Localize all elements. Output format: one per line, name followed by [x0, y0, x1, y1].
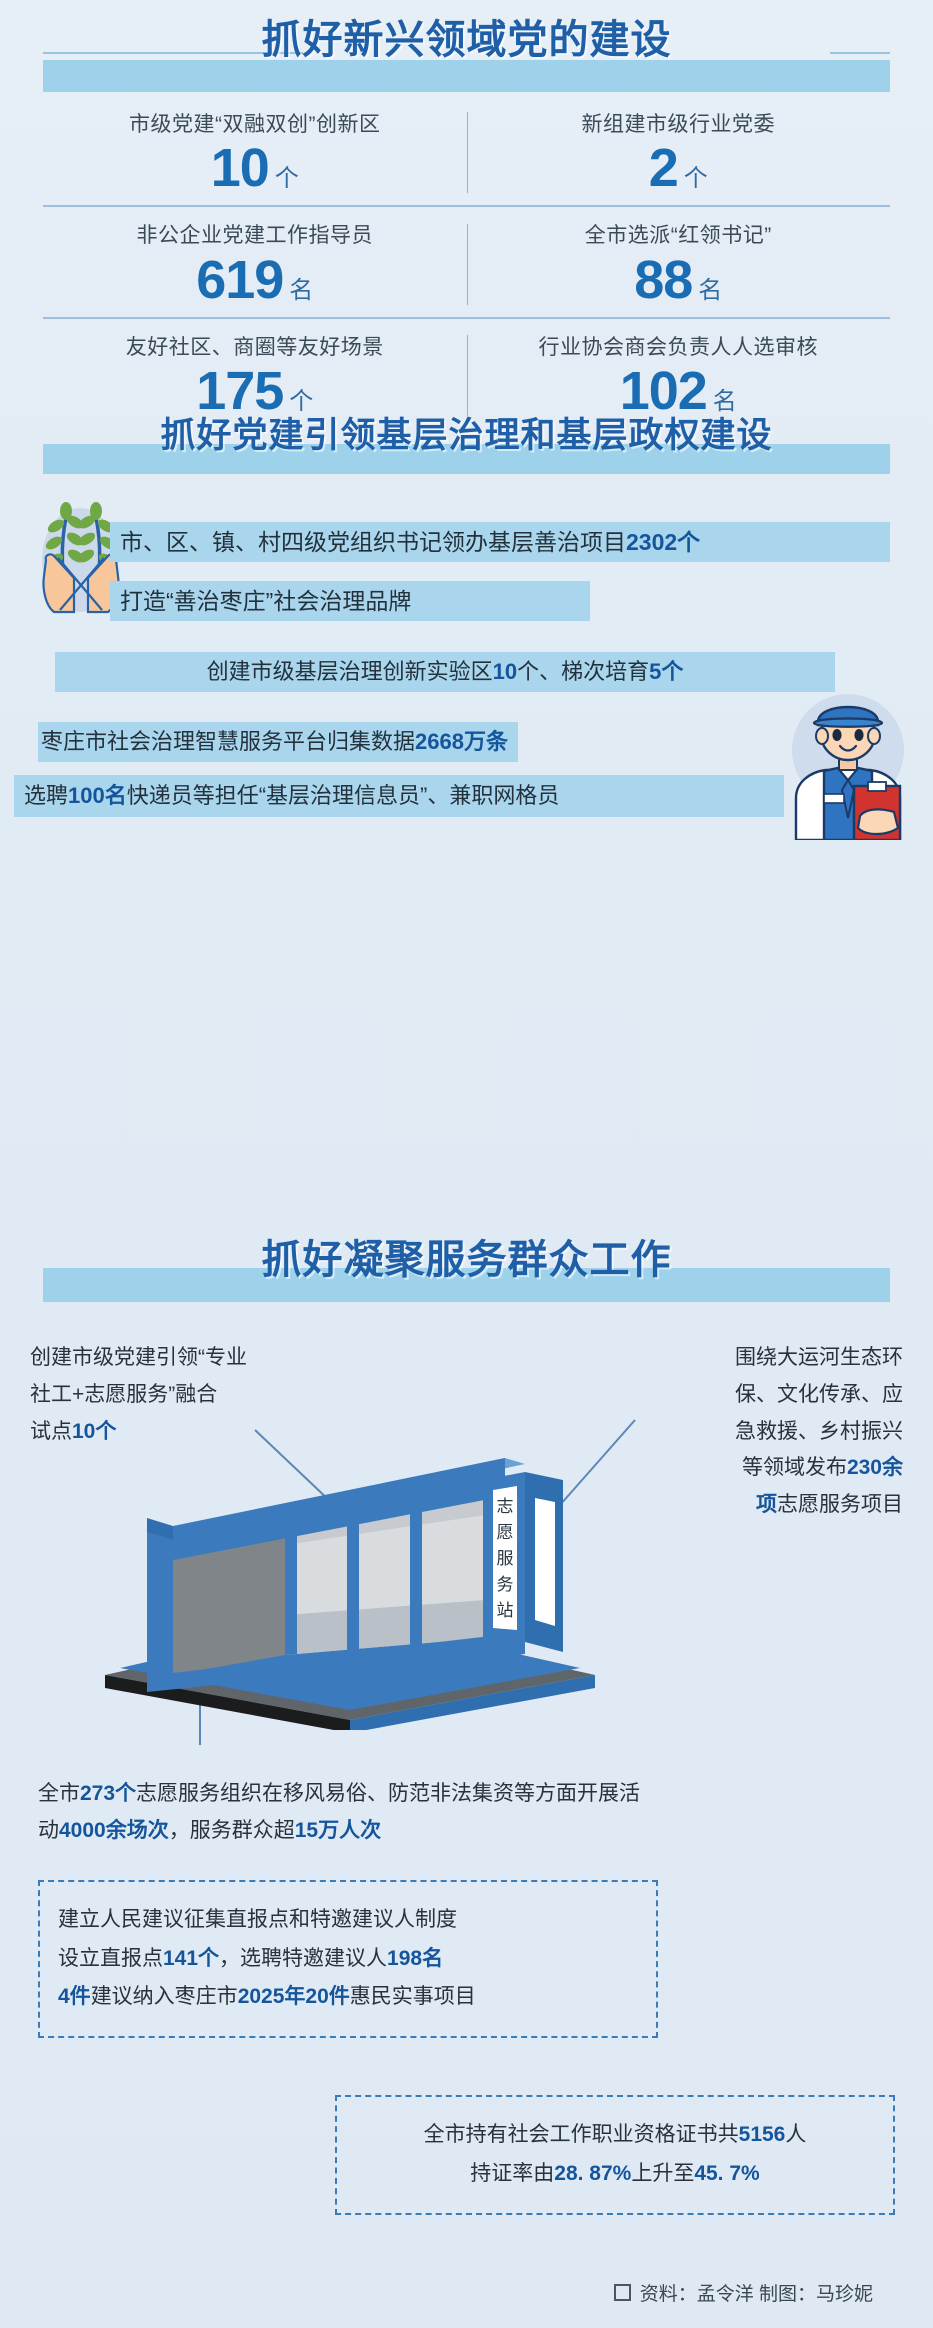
dashbox-highlight-2: 2025年20件 — [238, 1985, 350, 2008]
strip-governance-brand: 打造“善治枣庄”社会治理品牌 — [110, 581, 590, 621]
section-3-title: 抓好凝聚服务群众工作 — [0, 1240, 933, 1280]
stat-number: 175 — [196, 361, 283, 421]
strip-highlight-unit: 万条 — [464, 731, 508, 753]
strip-smart-platform: 枣庄市社会治理智慧服务平台归集数据2668万条 — [38, 722, 518, 762]
stat-label: 全市选派“红领书记” — [471, 221, 887, 250]
stat-unit: 个 — [289, 388, 313, 415]
note-line-2: 动4000余场次，服务群众超15万人次 — [38, 1813, 898, 1850]
strip-highlight-unit: 个 — [677, 531, 700, 554]
footer-text: 资料：孟令洋 制图：马珍妮 — [640, 2279, 873, 2306]
strip-grid-informants: 选聘100名快递员等担任“基层治理信息员”、兼职网格员 — [14, 775, 784, 817]
strip-text-tail: 快递员等担任“基层治理信息员”、兼职网格员 — [127, 785, 560, 807]
stat-number: 102 — [620, 361, 707, 421]
section-1-title: 抓好新兴领域党的建设 — [0, 14, 933, 60]
section-2-banner: 抓好党建引领基层治理和基层政权建设 — [0, 418, 933, 478]
dashbox-line-2: 设立直报点141个，选聘特邀建议人198名 — [58, 1940, 638, 1979]
stat-value: 88名 — [471, 253, 887, 307]
stat-unit: 名 — [289, 277, 313, 304]
dashbox-highlight: 141个 — [163, 1947, 219, 1970]
strip-text-mid: 个、梯次培育 — [517, 661, 649, 683]
stat-row-2: 非公企业党建工作指导员 619名 全市选派“红领书记” 88名 — [43, 211, 890, 312]
dashbox-text: 持证率由 — [470, 2162, 554, 2185]
note-volunteer-organizations: 全市273个志愿服务组织在移风易俗、防范非法集资等方面开展活 动4000余场次，… — [38, 1776, 898, 1850]
dashed-box-social-work-certificates: 全市持有社会工作职业资格证书共5156人 持证率由28. 87%上升至45. 7… — [335, 2095, 895, 2215]
note-text: ，服务群众超 — [169, 1819, 295, 1842]
dashbox-highlight-2: 198名 — [387, 1947, 443, 1970]
dashbox-highlight: 4件 — [58, 1985, 91, 2008]
dashbox-text: 设立直报点 — [58, 1947, 163, 1970]
stat-label: 友好社区、商圈等友好场景 — [47, 333, 463, 362]
strip-highlight: 100名 — [68, 785, 127, 807]
svg-text:站: 站 — [497, 1601, 514, 1620]
stat-label: 市级党建“双融双创”创新区 — [47, 110, 463, 139]
banner-highlight-bar — [43, 60, 890, 92]
stat-row-1: 市级党建“双融双创”创新区 10个 新组建市级行业党委 2个 — [43, 100, 890, 201]
dashbox-text: 建立人民建议征集直报点和特邀建议人制度 — [58, 1908, 457, 1931]
stat-number: 88 — [634, 250, 692, 310]
stat-row-1-divider — [467, 112, 468, 193]
stat-value: 2个 — [471, 141, 887, 195]
dashbox-text: 人 — [785, 2123, 806, 2146]
stat-cell-red-collar-secretary: 全市选派“红领书记” 88名 — [467, 211, 891, 312]
stat-number: 10 — [211, 138, 269, 198]
strip-highlight: 2302 — [626, 531, 677, 554]
dashbox-text: ，选聘特邀建议人 — [219, 1947, 387, 1970]
stat-cell-innovation-zone: 市级党建“双融双创”创新区 10个 — [43, 100, 467, 201]
dashbox-line-1: 建立人民建议征集直报点和特邀建议人制度 — [58, 1901, 638, 1940]
strip-text: 枣庄市社会治理智慧服务平台归集数据 — [41, 731, 415, 753]
strip-highlight-unit: 个 — [661, 661, 683, 683]
strip-highlight: 10 — [493, 661, 517, 683]
stat-label: 行业协会商会负责人人选审核 — [471, 333, 887, 362]
square-icon — [614, 2284, 631, 2301]
note-highlight: 273个 — [80, 1782, 136, 1805]
strip-text: 创建市级基层治理创新实验区 — [207, 661, 493, 683]
stat-divider-1 — [43, 205, 890, 207]
dashbox-text: 全市持有社会工作职业资格证书共 — [424, 2123, 739, 2146]
stat-value: 10个 — [47, 141, 463, 195]
stat-value: 619名 — [47, 253, 463, 307]
stat-value: 102名 — [471, 364, 887, 418]
stat-label: 非公企业党建工作指导员 — [47, 221, 463, 250]
footer-credits: 资料：孟令洋 制图：马珍妮 — [614, 2279, 873, 2306]
strip-highlight: 2668 — [415, 731, 464, 753]
stat-label: 新组建市级行业党委 — [471, 110, 887, 139]
svg-text:愿: 愿 — [497, 1523, 514, 1542]
delivery-worker-icon — [762, 690, 933, 840]
dashbox-text: 建议纳入枣庄市 — [91, 1985, 238, 2008]
note-text: 动 — [38, 1819, 59, 1842]
svg-text:志: 志 — [497, 1497, 514, 1516]
svg-text:服: 服 — [497, 1549, 514, 1568]
section-3-banner: 抓好凝聚服务群众工作 — [0, 1240, 933, 1300]
note-line-1: 全市273个志愿服务组织在移风易俗、防范非法集资等方面开展活 — [38, 1776, 898, 1813]
strip-text: 选聘 — [24, 785, 68, 807]
stat-number: 619 — [196, 250, 283, 310]
stat-cell-friendly-scenes: 友好社区、商圈等友好场景 175个 — [43, 323, 467, 424]
stat-value: 175个 — [47, 364, 463, 418]
strip-governance-projects: 市、区、镇、村四级党组织书记领办基层善治项目2302个 — [110, 522, 890, 562]
svg-text:务: 务 — [497, 1575, 514, 1594]
stat-unit: 个 — [275, 165, 299, 192]
stat-row-2-divider — [467, 224, 468, 305]
note-highlight: 4000余场次 — [59, 1819, 169, 1842]
strip-highlight-2: 5 — [649, 661, 661, 683]
dashbox-text: 惠民实事项目 — [350, 1985, 476, 2008]
section-1-stat-grid: 市级党建“双融双创”创新区 10个 新组建市级行业党委 2个 非公企业党建工作指… — [43, 100, 890, 424]
dashbox-text: 上升至 — [631, 2162, 694, 2185]
section-2-title: 抓好党建引领基层治理和基层政权建设 — [0, 418, 933, 453]
stat-unit: 名 — [698, 277, 722, 304]
note-highlight-2: 15万人次 — [295, 1819, 381, 1842]
dashed-box-people-suggestions: 建立人民建议征集直报点和特邀建议人制度 设立直报点141个，选聘特邀建议人198… — [38, 1880, 658, 2038]
section-1-banner: 抓好新兴领域党的建设 — [0, 14, 933, 78]
strip-text: 市、区、镇、村四级党组织书记领办基层善治项目 — [120, 531, 626, 554]
stat-number: 2 — [649, 138, 678, 198]
dashbox-line-3: 4件建议纳入枣庄市2025年20件惠民实事项目 — [58, 1978, 638, 2017]
infographic-page: 抓好新兴领域党的建设 市级党建“双融双创”创新区 10个 新组建市级行业党委 2… — [0, 0, 933, 2328]
strip-innovation-lab: 创建市级基层治理创新实验区10个、梯次培育5个 — [55, 652, 835, 692]
stat-row-3-divider — [467, 335, 468, 416]
stat-cell-industry-party-committee: 新组建市级行业党委 2个 — [467, 100, 891, 201]
dashbox-highlight-2: 45. 7% — [694, 2162, 759, 2185]
dashbox-line-2: 持证率由28. 87%上升至45. 7% — [470, 2155, 759, 2194]
stat-divider-2 — [43, 317, 890, 319]
stat-unit: 名 — [713, 388, 737, 415]
stat-unit: 个 — [684, 165, 708, 192]
dashbox-line-1: 全市持有社会工作职业资格证书共5156人 — [424, 2116, 807, 2155]
dashbox-highlight: 5156 — [739, 2123, 786, 2146]
stat-row-3: 友好社区、商圈等友好场景 175个 行业协会商会负责人人选审核 102名 — [43, 323, 890, 424]
stat-cell-party-instructors: 非公企业党建工作指导员 619名 — [43, 211, 467, 312]
note-text: 全市 — [38, 1782, 80, 1805]
dashbox-highlight: 28. 87% — [554, 2162, 631, 2185]
volunteer-service-station-icon: 志 愿 服 务 站 — [85, 1420, 615, 1730]
note-text: 志愿服务组织在移风易俗、防范非法集资等方面开展活 — [136, 1782, 640, 1805]
strip-text: 打造“善治枣庄”社会治理品牌 — [120, 590, 411, 613]
stat-cell-association-review: 行业协会商会负责人人选审核 102名 — [467, 323, 891, 424]
